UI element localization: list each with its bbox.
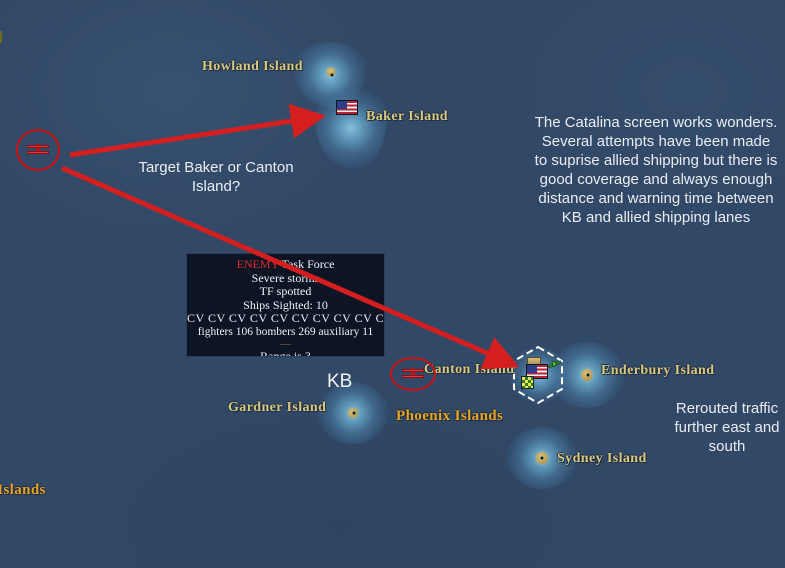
enemy-ship-icon: [402, 368, 424, 380]
ship-hull-lower: [402, 375, 424, 378]
us-flag-icon-canton[interactable]: [526, 364, 548, 379]
island-center-dot: [331, 74, 334, 77]
enemy-task-force-tooltip: ENEMY Task Force Severe storms TF spotte…: [186, 253, 385, 357]
selected-hex-canton[interactable]: [512, 346, 564, 404]
island-group-label-clipped: e Islands: [0, 482, 46, 499]
tooltip-aircraft: fighters 106 bombers 269 auxiliary 11: [187, 326, 384, 340]
island-label-howland: Howland Island: [202, 59, 303, 75]
island-howland[interactable]: [292, 40, 368, 110]
enemy-task-force-marker-west[interactable]: [16, 129, 60, 171]
airbase-marker-icon[interactable]: [521, 376, 534, 389]
island-landmass: [582, 369, 593, 381]
supply-crate-icon[interactable]: [527, 357, 541, 366]
island-halo: [507, 427, 577, 489]
island-center-dot: [587, 374, 590, 377]
tooltip-separator: —: [187, 339, 384, 349]
island-landmass: [327, 68, 336, 77]
attack-arrows: [0, 0, 785, 568]
selection-ring: [390, 357, 436, 391]
island-halo: [294, 42, 366, 108]
us-flag-icon-baker[interactable]: [336, 100, 358, 115]
island-center-dot: [541, 457, 544, 460]
island-sydney[interactable]: [505, 425, 579, 491]
tooltip-ships-sighted: Ships Sighted: 10: [187, 299, 384, 313]
annotation-rerouted-note: Rerouted traffic further east and south: [674, 399, 780, 456]
ship-mast: [411, 368, 415, 377]
tooltip-title: ENEMY Task Force: [187, 258, 384, 272]
annotation-target-question: Target Baker or Canton Island?: [118, 158, 314, 196]
tooltip-weather: Severe storms: [187, 272, 384, 286]
tooltip-title-rest: Task Force: [279, 257, 335, 271]
aircraft-icon-canton[interactable]: [546, 358, 562, 370]
selection-ring: [16, 129, 60, 171]
tooltip-status: TF spotted: [187, 285, 384, 299]
enemy-ship-icon: [27, 144, 49, 156]
island-center-dot: [353, 412, 356, 415]
ocean-shading: [0, 0, 380, 240]
island-canton[interactable]: [506, 344, 572, 406]
island-group-label-phoenix: Phoenix Islands: [396, 408, 503, 425]
annotation-kb-label: KB: [327, 371, 352, 393]
enemy-task-force-marker-canton[interactable]: [390, 357, 436, 391]
ocean-shading: [40, 368, 640, 568]
arrow-to-baker: [70, 117, 318, 155]
ship-hull-upper: [27, 145, 49, 148]
island-landmass: [348, 408, 358, 418]
tooltip-range: Range is 3: [187, 350, 384, 357]
tooltip-enemy-word: ENEMY: [237, 257, 279, 271]
island-halo: [510, 347, 568, 403]
island-enderbury[interactable]: [548, 340, 626, 410]
ship-hull-upper: [402, 369, 424, 372]
ocean-shading: [505, 0, 785, 220]
island-label-enderbury: Enderbury Island: [601, 363, 714, 379]
island-baker[interactable]: [310, 85, 392, 171]
ship-mast: [36, 144, 40, 153]
island-label-gardner: Gardner Island: [228, 400, 326, 416]
ship-hull-lower: [27, 151, 49, 154]
island-label-canton: Canton Island: [424, 362, 514, 378]
tooltip-ship-types: CV CV CV CV CV CV CV CV CV CV: [187, 312, 384, 326]
naval-strategy-map[interactable]: Howland Island Baker Island Canton Islan…: [0, 0, 785, 568]
island-halo: [315, 87, 387, 169]
island-gardner[interactable]: [316, 380, 390, 446]
island-label-baker: Baker Island: [366, 109, 448, 125]
annotation-catalina-note: The Catalina screen works wonders. Sever…: [534, 113, 778, 227]
island-landmass: [536, 452, 548, 464]
island-label-sydney: Sydney Island: [557, 451, 647, 467]
island-halo: [550, 342, 624, 408]
clipped-corner-label: 1: [0, 31, 2, 43]
island-halo: [318, 382, 388, 444]
